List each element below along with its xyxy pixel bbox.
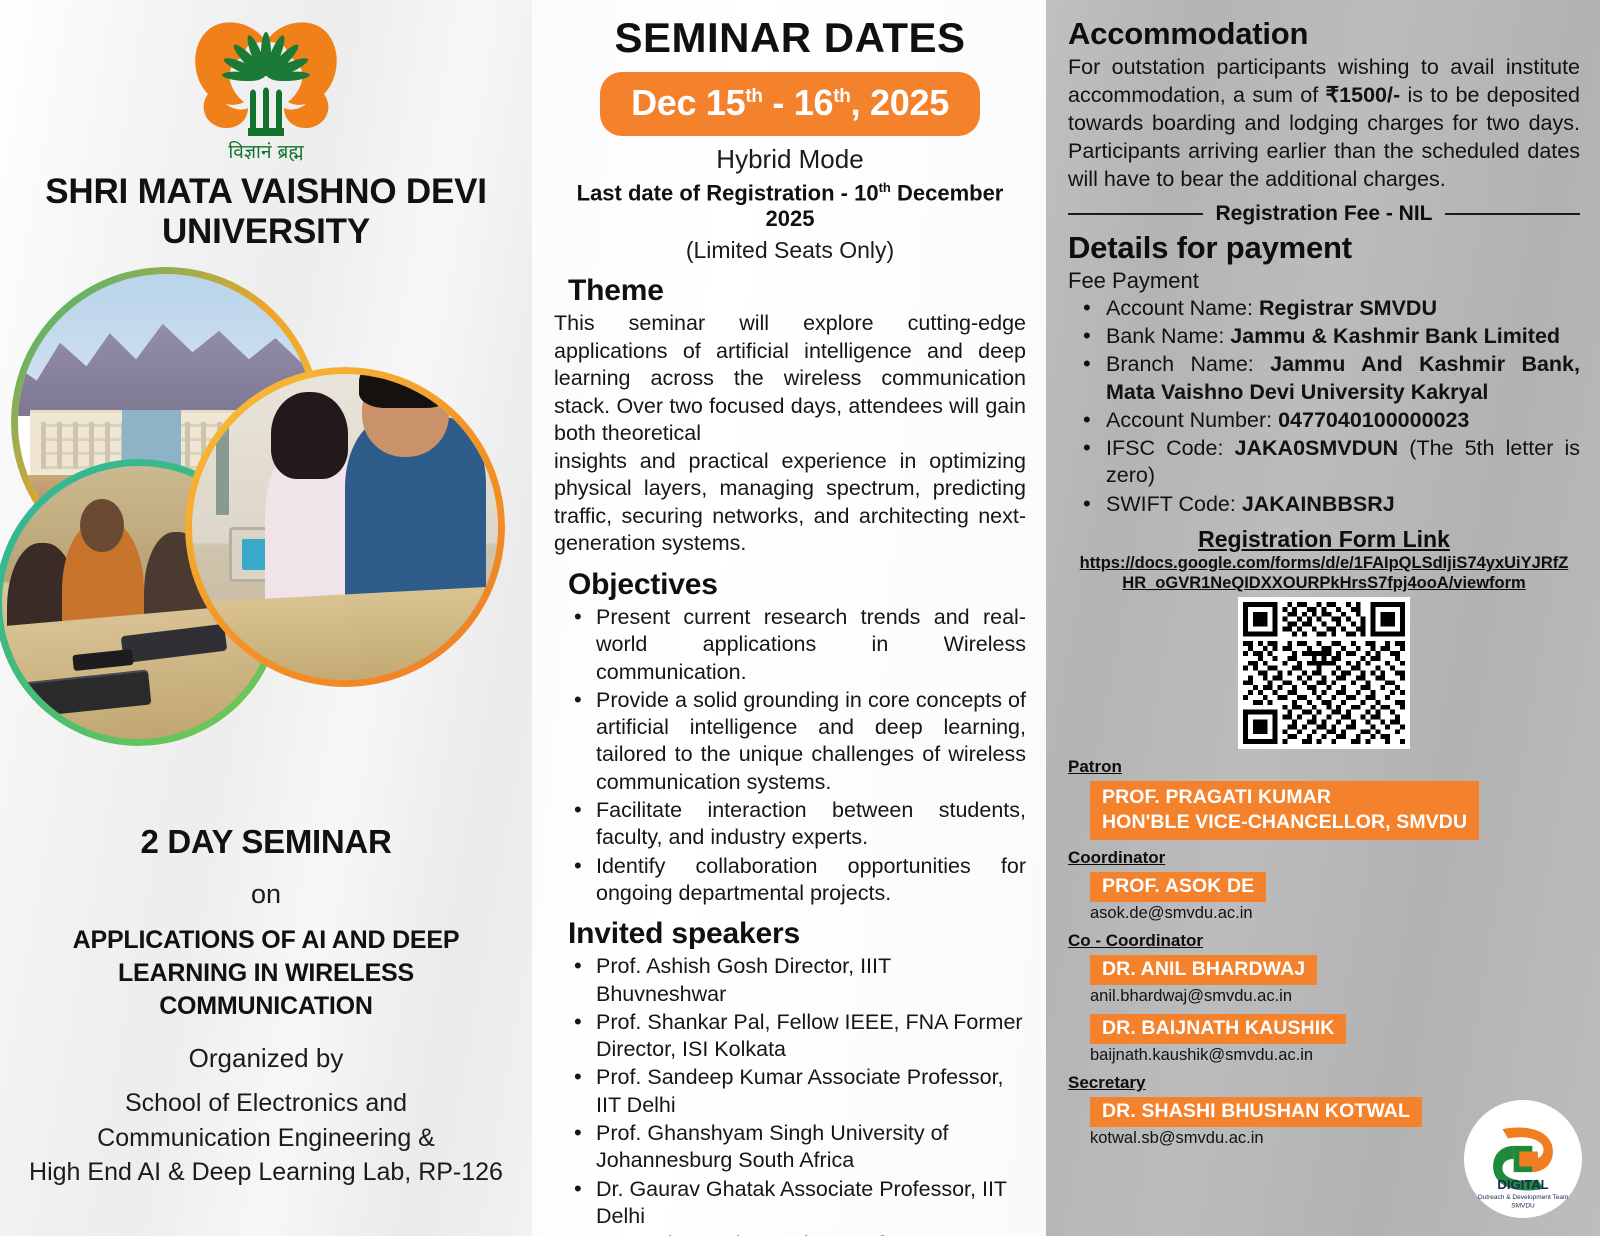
role-label-coordinator: Coordinator — [1068, 848, 1580, 868]
payment-value: JAKA0SMVDUN — [1235, 436, 1399, 460]
photo-cluster — [0, 257, 532, 817]
organizer-line-2: Communication Engineering & — [10, 1121, 522, 1156]
objectives-heading: Objectives — [568, 568, 1026, 602]
list-item: Provide a solid grounding in core concep… — [570, 687, 1026, 796]
seminar-topic: APPLICATIONS OF AI AND DEEP LEARNING IN … — [0, 924, 532, 1023]
date-day2-suffix: th — [833, 86, 850, 107]
list-item: Prof. Shankar Pal, Fellow IEEE, FNA Form… — [570, 1009, 1026, 1064]
list-item: Account Name: Registrar SMVDU — [1080, 295, 1580, 322]
divider-line-right — [1445, 213, 1580, 215]
divider-line-left — [1068, 213, 1203, 215]
theme-paragraph-1: This seminar will explore cutting-edge a… — [554, 310, 1026, 448]
list-item: Branch Name: Jammu And Kashmir Bank, Mat… — [1080, 351, 1580, 406]
registration-fee-text: Registration Fee - NIL — [1215, 202, 1432, 226]
list-item: Prof. Ghanshyam Singh University of Joha… — [570, 1120, 1026, 1175]
last-date-prefix: Last date of Registration - 10 — [577, 180, 879, 205]
date-day1-suffix: th — [745, 86, 762, 107]
organizer-block: School of Electronics and Communication … — [0, 1086, 532, 1190]
digital-logo-title: DIGITAL — [1497, 1177, 1548, 1192]
payment-value: Registrar SMVDU — [1259, 296, 1437, 320]
list-item: Dr. Punit Goyal Associate Professor, IIT… — [570, 1231, 1026, 1236]
list-item: Account Number: 0477040100000023 — [1080, 407, 1580, 434]
payment-label: Bank Name: — [1106, 324, 1230, 348]
date-month: Dec — [631, 82, 696, 123]
last-date-suffix-sup: th — [879, 180, 891, 195]
date-dash: - — [772, 82, 784, 123]
date-year: , 2025 — [851, 82, 949, 123]
coordinator-name-badge: PROF. ASOK DE — [1090, 872, 1266, 902]
payment-value: 0477040100000023 — [1278, 408, 1469, 432]
role-label-co-coordinator: Co - Coordinator — [1068, 931, 1580, 951]
invited-speakers-list: Prof. Ashish Gosh Director, IIIT Bhuvnes… — [570, 953, 1026, 1236]
registration-form-link-title: Registration Form Link — [1068, 526, 1580, 553]
organizer-line-3: High End AI & Deep Learning Lab, RP-126 — [10, 1155, 522, 1190]
accommodation-amount: ₹1500/- — [1325, 83, 1400, 107]
list-item: Identify collaboration opportunities for… — [570, 853, 1026, 908]
co-coordinator-name-badge-2: DR. BAIJNATH KAUSHIK — [1090, 1014, 1346, 1044]
date-day1: 15 — [706, 82, 745, 123]
secretary-name-badge: DR. SHASHI BHUSHAN KOTWAL — [1090, 1097, 1422, 1127]
payment-details-list: Account Name: Registrar SMVDU Bank Name:… — [1080, 295, 1580, 518]
payment-details-heading: Details for payment — [1068, 230, 1580, 266]
patron-name-badge: PROF. PRAGATI KUMAR HON'BLE VICE-CHANCEL… — [1090, 781, 1479, 840]
list-item: Bank Name: Jammu & Kashmir Bank Limited — [1080, 323, 1580, 350]
list-item: Dr. Gaurav Ghatak Associate Professor, I… — [570, 1176, 1026, 1231]
seminar-duration-title: 2 DAY SEMINAR — [0, 823, 532, 861]
university-logo: विज्ञानं ब्रह्म — [0, 0, 532, 168]
theme-paragraph-2: insights and practical experience in opt… — [554, 448, 1026, 558]
list-item: Prof. Sandeep Kumar Associate Professor,… — [570, 1064, 1026, 1119]
date-day2: 16 — [794, 82, 833, 123]
qr-code-icon — [1243, 602, 1405, 744]
mode-label: Hybrid Mode — [554, 144, 1026, 175]
on-label: on — [0, 879, 532, 910]
seminar-brochure: विज्ञानं ब्रह्म SHRI MATA VAISHNO DEVI U… — [0, 0, 1600, 1236]
organizer-line-1: School of Electronics and — [10, 1086, 522, 1121]
payment-label: IFSC Code: — [1106, 436, 1235, 460]
fee-payment-label: Fee Payment — [1068, 268, 1580, 294]
digital-team-logo: DIGITAL Outreach & Development Team SMVD… — [1464, 1100, 1582, 1218]
payment-label: Account Number: — [1106, 408, 1278, 432]
list-item: Prof. Ashish Gosh Director, IIIT Bhuvnes… — [570, 953, 1026, 1008]
digital-outreach-icon: DIGITAL Outreach & Development Team SMVD… — [1467, 1103, 1579, 1215]
middle-panel: SEMINAR DATES Dec 15th - 16th, 2025 Hybr… — [532, 0, 1046, 1236]
payment-value: JAKAINBBSRJ — [1242, 492, 1395, 516]
limited-seats-note: (Limited Seats Only) — [554, 237, 1026, 264]
registration-fee-divider: Registration Fee - NIL — [1068, 202, 1580, 226]
qr-code[interactable] — [1238, 597, 1410, 749]
left-panel: विज्ञानं ब्रह्म SHRI MATA VAISHNO DEVI U… — [0, 0, 532, 1236]
seminar-date-badge: Dec 15th - 16th, 2025 — [600, 72, 980, 136]
list-item: SWIFT Code: JAKAINBBSRJ — [1080, 491, 1580, 518]
theme-heading: Theme — [568, 274, 1026, 308]
co-coordinator-name-badge-1: DR. ANIL BHARDWAJ — [1090, 955, 1317, 985]
co-coordinator-email-1[interactable]: anil.bhardwaj@smvdu.ac.in — [1090, 987, 1580, 1006]
seminar-dates-heading: SEMINAR DATES — [554, 14, 1026, 62]
list-item: Present current research trends and real… — [570, 604, 1026, 686]
payment-label: Account Name: — [1106, 296, 1259, 320]
accommodation-body: For outstation participants wishing to a… — [1068, 54, 1580, 194]
payment-label: SWIFT Code: — [1106, 492, 1242, 516]
role-label-secretary: Secretary — [1068, 1073, 1580, 1093]
coordinator-email[interactable]: asok.de@smvdu.ac.in — [1090, 904, 1580, 923]
university-name: SHRI MATA VAISHNO DEVI UNIVERSITY — [0, 172, 532, 251]
smvdu-lotus-logo: विज्ञानं ब्रह्म — [184, 16, 348, 168]
digital-logo-subtitle-2: SMVDU — [1511, 1203, 1535, 1210]
role-label-patron: Patron — [1068, 757, 1580, 777]
payment-value: Jammu & Kashmir Bank Limited — [1230, 324, 1560, 348]
list-item: IFSC Code: JAKA0SMVDUN (The 5th letter i… — [1080, 435, 1580, 490]
right-panel: Accommodation For outstation participant… — [1046, 0, 1600, 1236]
last-date-registration: Last date of Registration - 10th Decembe… — [554, 180, 1026, 232]
logo-motto-text: विज्ञानं ब्रह्म — [228, 140, 304, 163]
objectives-list: Present current research trends and real… — [570, 604, 1026, 907]
list-item: Facilitate interaction between students,… — [570, 797, 1026, 852]
accommodation-heading: Accommodation — [1068, 16, 1580, 52]
qr-code-wrap — [1068, 597, 1580, 749]
invited-speakers-heading: Invited speakers — [568, 917, 1026, 951]
registration-form-url[interactable]: https://docs.google.com/forms/d/e/1FAIpQ… — [1068, 553, 1580, 593]
organized-by-label: Organized by — [0, 1043, 532, 1074]
payment-label: Branch Name: — [1106, 352, 1270, 376]
digital-logo-subtitle-1: Outreach & Development Team — [1478, 1194, 1569, 1201]
co-coordinator-email-2[interactable]: baijnath.kaushik@smvdu.ac.in — [1090, 1046, 1580, 1065]
students-lab-photo — [185, 367, 505, 687]
theme-body: This seminar will explore cutting-edge a… — [554, 310, 1026, 558]
